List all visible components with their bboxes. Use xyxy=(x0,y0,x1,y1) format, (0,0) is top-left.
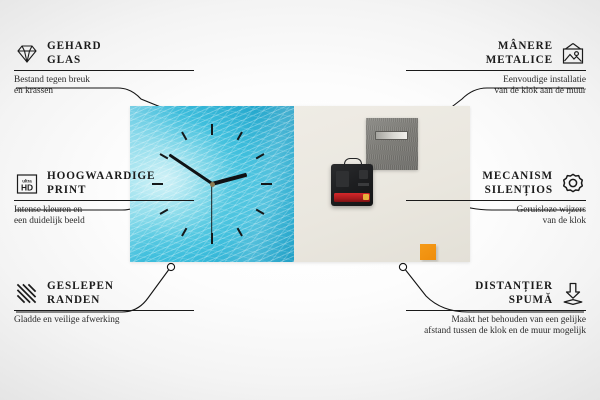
feature-description: Geruisloze wijzers van de klok xyxy=(406,205,586,228)
arrow-down-to-platform-icon xyxy=(560,281,586,307)
feature-description: Maakt het behouden van een gelijke afsta… xyxy=(400,315,586,338)
feature-title: GESLEPEN RANDEN xyxy=(47,280,114,307)
diagonal-lines-icon xyxy=(14,281,40,307)
feature-title: HOOGWAARDIGE PRINT xyxy=(47,170,155,197)
feature-description: Eenvoudige installatie van de klok aan d… xyxy=(406,75,586,98)
svg-text:HD: HD xyxy=(21,182,33,192)
movement-detail xyxy=(359,170,368,179)
movement-detail xyxy=(336,171,349,187)
feature-title: MECANISM SILENȚIOS xyxy=(482,170,553,197)
quartz-clock-movement xyxy=(331,164,373,206)
feature-divider xyxy=(406,200,586,201)
movement-detail xyxy=(358,183,369,186)
diamond-icon xyxy=(14,41,40,67)
hanger-slot xyxy=(375,131,408,140)
feature-distantier-spuma: DISTANȚIER SPUMĂ Maakt het behouden van … xyxy=(406,280,586,338)
picture-frame-hanger-icon xyxy=(560,41,586,67)
feature-geslepen-randen: GESLEPEN RANDEN Gladde en veilige afwerk… xyxy=(14,280,194,326)
feature-divider xyxy=(14,310,194,311)
aa-battery xyxy=(334,193,370,202)
feature-description: Intense kleuren en een duidelijk beeld xyxy=(14,205,194,228)
feature-description: Bestand tegen breuk en krassen xyxy=(14,75,194,98)
feature-hoogwaardige-print: ultra HD HOOGWAARDIGE PRINT Intense kleu… xyxy=(14,170,194,228)
feature-divider xyxy=(406,310,586,311)
clock-hub xyxy=(210,182,215,187)
movement-hanger-loop xyxy=(344,158,362,167)
connector-dot-distantier-spuma xyxy=(399,263,406,270)
feature-description: Gladde en veilige afwerking xyxy=(14,315,194,326)
feature-gehard-glas: GEHARD GLAS Bestand tegen breuk en krass… xyxy=(14,40,194,98)
feature-manere-metalice: MÂNERE METALICE Eenvoudige installatie v… xyxy=(406,40,586,98)
foam-spacer xyxy=(420,244,436,260)
gear-icon xyxy=(560,171,586,197)
infographic-canvas: GEHARD GLAS Bestand tegen breuk en krass… xyxy=(0,0,600,400)
feature-divider xyxy=(406,70,586,71)
connector-dot-geslepen-randen xyxy=(167,263,174,270)
metal-hanger-plate xyxy=(366,118,418,170)
battery-plus-terminal xyxy=(363,194,369,200)
feature-divider xyxy=(14,200,194,201)
feature-mecanism-silentios: MECANISM SILENȚIOS Geruisloze wijzers va… xyxy=(406,170,586,228)
ultra-hd-icon: ultra HD xyxy=(14,171,40,197)
feature-divider xyxy=(14,70,194,71)
feature-title: MÂNERE METALICE xyxy=(486,40,553,67)
feature-title: DISTANȚIER SPUMĂ xyxy=(475,280,553,307)
feature-title: GEHARD GLAS xyxy=(47,40,102,67)
